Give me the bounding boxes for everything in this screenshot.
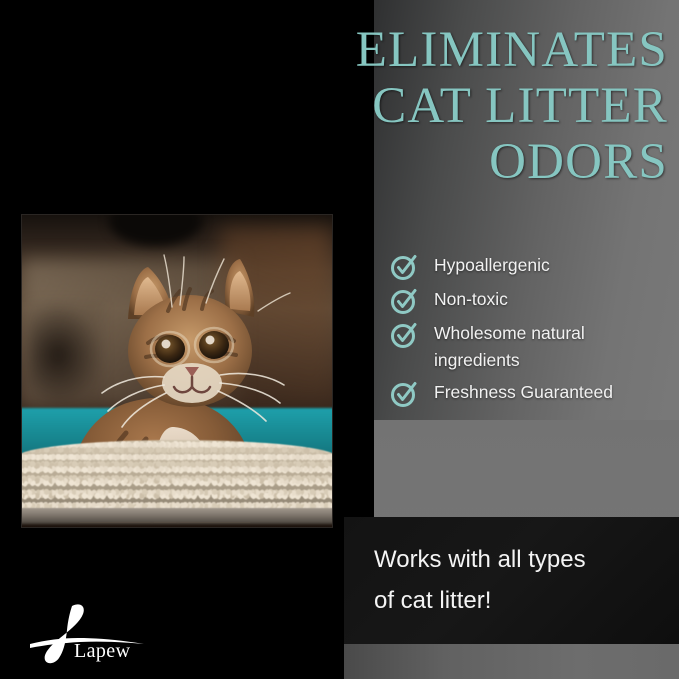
logo-wordmark: Lapew bbox=[74, 640, 130, 663]
list-item: Non-toxic bbox=[390, 286, 670, 315]
benefit-label: Hypoallergenic bbox=[434, 252, 550, 279]
check-circle-icon bbox=[390, 253, 418, 281]
list-item: Freshness Guaranteed bbox=[390, 379, 670, 408]
check-circle-icon bbox=[390, 321, 418, 349]
list-item: Wholesome natural ingredients bbox=[390, 320, 670, 374]
product-infographic: ELIMINATES CAT LITTER ODORS bbox=[0, 0, 679, 679]
benefit-label: Freshness Guaranteed bbox=[434, 379, 613, 406]
check-circle-icon bbox=[390, 287, 418, 315]
list-item: Hypoallergenic bbox=[390, 252, 670, 281]
benefit-label: Wholesome natural ingredients bbox=[434, 320, 659, 374]
callout-panel: Works with all types of cat litter! bbox=[344, 517, 679, 644]
callout-text: Works with all types of cat litter! bbox=[374, 539, 656, 621]
check-circle-icon bbox=[390, 380, 418, 408]
headline: ELIMINATES CAT LITTER ODORS bbox=[300, 22, 668, 190]
cat-litter bbox=[22, 440, 332, 509]
benefits-list: Hypoallergenic Non-toxic Wholesome natur… bbox=[390, 252, 670, 413]
benefit-label: Non-toxic bbox=[434, 286, 508, 313]
product-photo bbox=[22, 215, 332, 527]
background-bottom-strip bbox=[344, 640, 679, 679]
brand-logo: Lapew bbox=[26, 600, 176, 666]
